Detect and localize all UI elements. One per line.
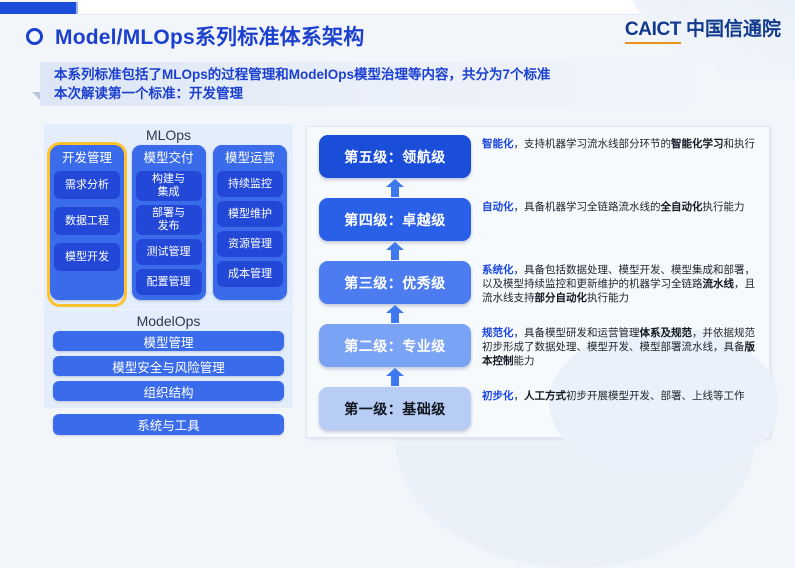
mlops-column-3: 模型运营持续监控模型维护资源管理成本管理 xyxy=(213,145,287,300)
mlops-cell[interactable]: 数据工程 xyxy=(54,207,120,235)
maturity-description-list: 智能化，支持机器学习流水线部分环节的智能化学习和执行自动化，具备机器学习全链路流… xyxy=(482,135,760,431)
mlops-cell[interactable]: 模型开发 xyxy=(54,243,120,271)
mlops-column-title: 模型运营 xyxy=(217,149,283,168)
mlops-cell[interactable]: 测试管理 xyxy=(136,239,202,265)
mlops-cell[interactable]: 配置管理 xyxy=(136,269,202,295)
maturity-level-box[interactable]: 第一级：基础级 xyxy=(319,387,471,430)
mlops-cell[interactable]: 构建与集成 xyxy=(136,171,202,201)
caict-logo: CAICT 中国信通院 xyxy=(625,14,781,44)
arrow-up-icon xyxy=(319,367,471,387)
modelops-zone-title: ModelOps xyxy=(44,310,293,331)
mlops-column-title: 模型交付 xyxy=(136,149,202,168)
subtitle-line-2: 本次解读第一个标准：开发管理 xyxy=(54,84,715,103)
mlops-column-1: 开发管理需求分析数据工程模型开发 xyxy=(50,145,124,300)
mlops-cell[interactable]: 持续监控 xyxy=(217,171,283,197)
mlops-cell[interactable]: 成本管理 xyxy=(217,261,283,287)
maturity-level-box[interactable]: 第二级：专业级 xyxy=(319,324,471,367)
architecture-diagram: MLOps 开发管理需求分析数据工程模型开发模型交付构建与集成部署与发布测试管理… xyxy=(44,124,293,442)
maturity-level-row: 第三级：优秀级 xyxy=(319,261,471,324)
modelops-bar-list: 模型管理模型安全与风险管理组织结构 xyxy=(44,331,293,401)
arrow-up-icon xyxy=(319,304,471,324)
foundation-bar[interactable]: 系统与工具 xyxy=(53,414,284,435)
arrow-up-icon xyxy=(319,178,471,198)
modelops-bar[interactable]: 组织结构 xyxy=(53,381,284,401)
modelops-bar[interactable]: 模型管理 xyxy=(53,331,284,351)
maturity-level-description: 自动化，具备机器学习全链路流水线的全自动化执行能力 xyxy=(482,200,760,214)
maturity-level-box[interactable]: 第三级：优秀级 xyxy=(319,261,471,304)
maturity-level-row: 第四级：卓越级 xyxy=(319,198,471,261)
mlops-zone-title: MLOps xyxy=(44,124,293,145)
mlops-columns: 开发管理需求分析数据工程模型开发模型交付构建与集成部署与发布测试管理配置管理模型… xyxy=(44,145,293,300)
mlops-column-title: 开发管理 xyxy=(54,149,120,168)
maturity-level-row: 第五级：领航级 xyxy=(319,135,471,198)
maturity-level-description: 初步化，人工方式初步开展模型开发、部署、上线等工作 xyxy=(482,389,760,403)
ring-bullet-icon xyxy=(26,28,43,45)
logo-mark-text: CAICT xyxy=(625,19,681,44)
modelops-bar[interactable]: 模型安全与风险管理 xyxy=(53,356,284,376)
maturity-level-box[interactable]: 第四级：卓越级 xyxy=(319,198,471,241)
logo-name-text: 中国信通院 xyxy=(686,14,781,41)
top-accent-bar xyxy=(0,2,78,14)
maturity-level-row: 第一级：基础级 xyxy=(319,387,471,430)
maturity-model-panel: 第五级：领航级第四级：卓越级第三级：优秀级第二级：专业级第一级：基础级 智能化，… xyxy=(306,126,770,438)
maturity-level-description: 规范化，具备模型研发和运营管理体系及规范，并依据规范初步形成了数据处理、模型开发… xyxy=(482,326,760,368)
subtitle-line-1: 本系列标准包括了MLOps的过程管理和ModelOps模型治理等内容，共分为7个… xyxy=(54,65,715,84)
mlops-cell[interactable]: 模型维护 xyxy=(217,201,283,227)
maturity-level-row: 第二级：专业级 xyxy=(319,324,471,387)
mlops-cell[interactable]: 资源管理 xyxy=(217,231,283,257)
maturity-level-box[interactable]: 第五级：领航级 xyxy=(319,135,471,178)
modelops-zone: ModelOps 模型管理模型安全与风险管理组织结构 xyxy=(44,310,293,408)
maturity-ladder: 第五级：领航级第四级：卓越级第三级：优秀级第二级：专业级第一级：基础级 xyxy=(319,135,471,431)
arrow-up-icon xyxy=(319,241,471,261)
subtitle-box: 本系列标准包括了MLOps的过程管理和ModelOps模型治理等内容，共分为7个… xyxy=(40,62,715,106)
mlops-cell[interactable]: 部署与发布 xyxy=(136,205,202,235)
maturity-level-description: 智能化，支持机器学习流水线部分环节的智能化学习和执行 xyxy=(482,137,760,151)
mlops-column-2: 模型交付构建与集成部署与发布测试管理配置管理 xyxy=(132,145,206,300)
mlops-cell[interactable]: 需求分析 xyxy=(54,171,120,199)
subtitle-ribbon: 本系列标准包括了MLOps的过程管理和ModelOps模型治理等内容，共分为7个… xyxy=(32,62,715,108)
maturity-level-description: 系统化，具备包括数据处理、模型开发、模型集成和部署，以及模型持续监控和更新维护的… xyxy=(482,263,760,305)
page-title: Model/MLOps系列标准体系架构 xyxy=(55,21,364,51)
